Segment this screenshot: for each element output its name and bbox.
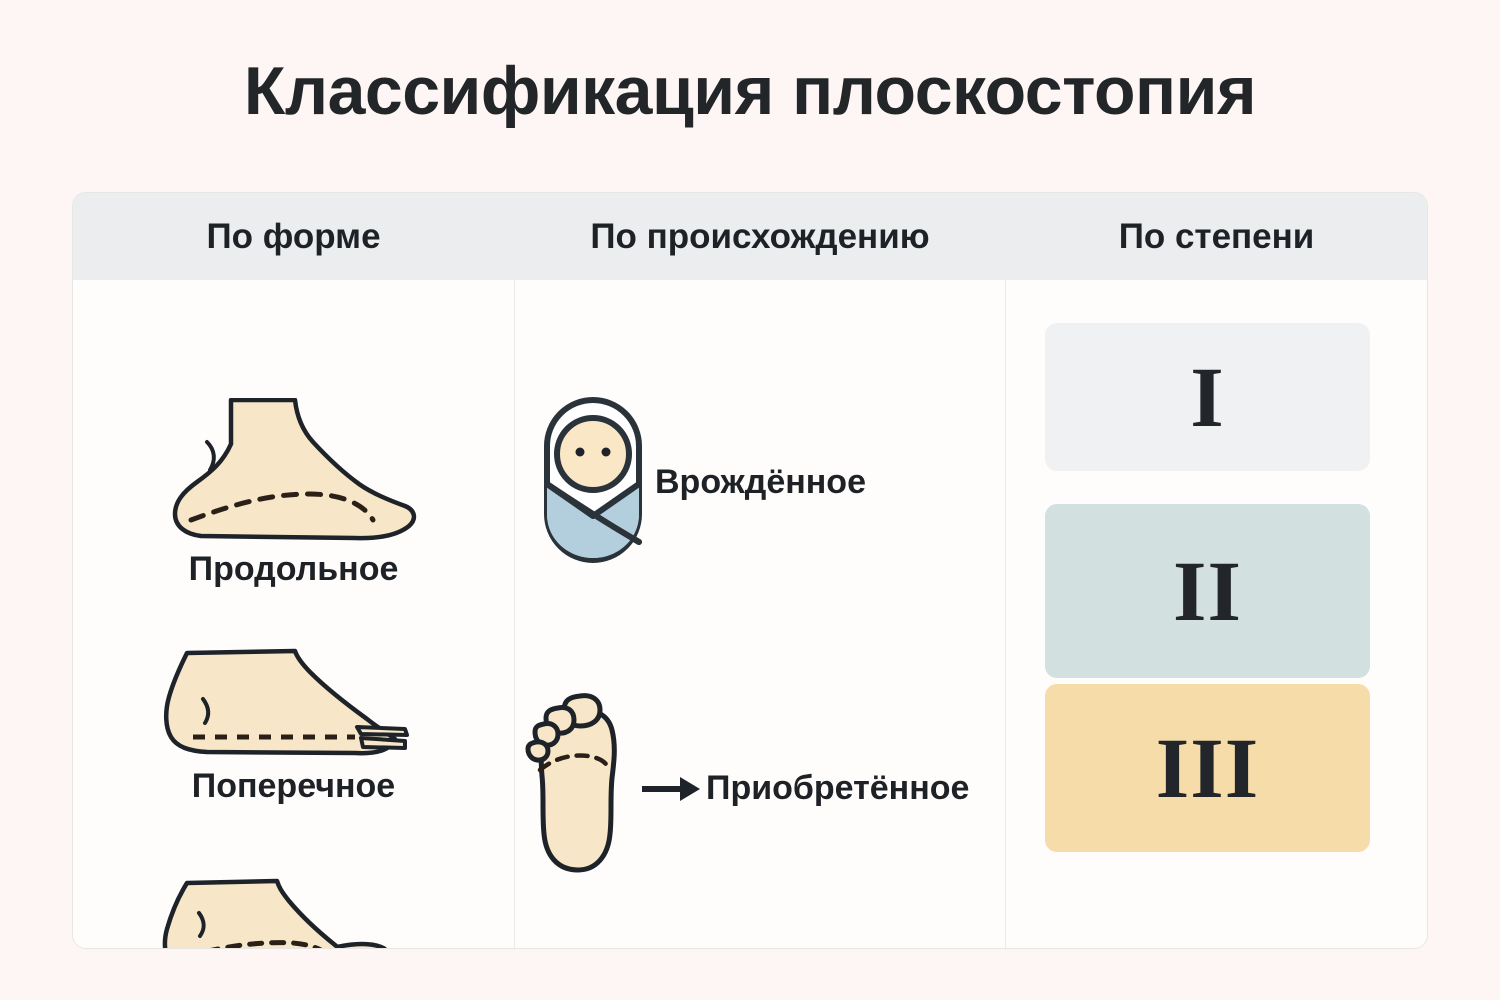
arrow-right-icon [640, 772, 702, 806]
foot-side-combined-icon [73, 873, 514, 949]
swaddled-baby-icon [531, 392, 655, 573]
form-item-combined[interactable]: Комбинированое [73, 873, 514, 949]
table-header-row: По форме По происхождению По степени [73, 193, 1427, 280]
origin-item-congenital-label: Врождённое [655, 463, 866, 502]
column-header-origin: По происхождению [514, 217, 1006, 257]
classification-table-card: По форме По происхождению По степени Про… [72, 192, 1428, 949]
degree-box-i[interactable]: I [1045, 323, 1370, 471]
form-item-transverse-label: Поперечное [73, 767, 514, 806]
ankle-bone-mark [207, 442, 214, 470]
footprint-sole-icon [520, 686, 638, 891]
degree-box-ii[interactable]: II [1045, 504, 1370, 678]
toe-line-lower [361, 738, 405, 748]
column-header-degree: По степени [1006, 217, 1427, 257]
foot-side-longitudinal-icon [73, 398, 514, 548]
table-body: Продольное Поперечное [73, 280, 1427, 948]
toe-line-upper [357, 727, 407, 735]
origin-item-acquired-label: Приобретённое [706, 769, 969, 808]
column-header-form: По форме [73, 217, 514, 257]
form-item-longitudinal-label: Продольное [73, 550, 514, 589]
column-origin: Врождённое [514, 280, 1006, 948]
page-title: Классификация плоскостопия [0, 52, 1500, 130]
origin-item-acquired[interactable]: Приобретённое [520, 686, 969, 891]
degree-box-iii[interactable]: III [1045, 684, 1370, 852]
form-item-transverse[interactable]: Поперечное [73, 635, 514, 806]
column-degree: I II III [1006, 280, 1427, 948]
column-form: Продольное Поперечное [73, 280, 514, 948]
form-item-longitudinal[interactable]: Продольное [73, 398, 514, 589]
origin-item-congenital[interactable]: Врождённое [531, 392, 866, 573]
foot-side-transverse-icon [73, 635, 514, 765]
